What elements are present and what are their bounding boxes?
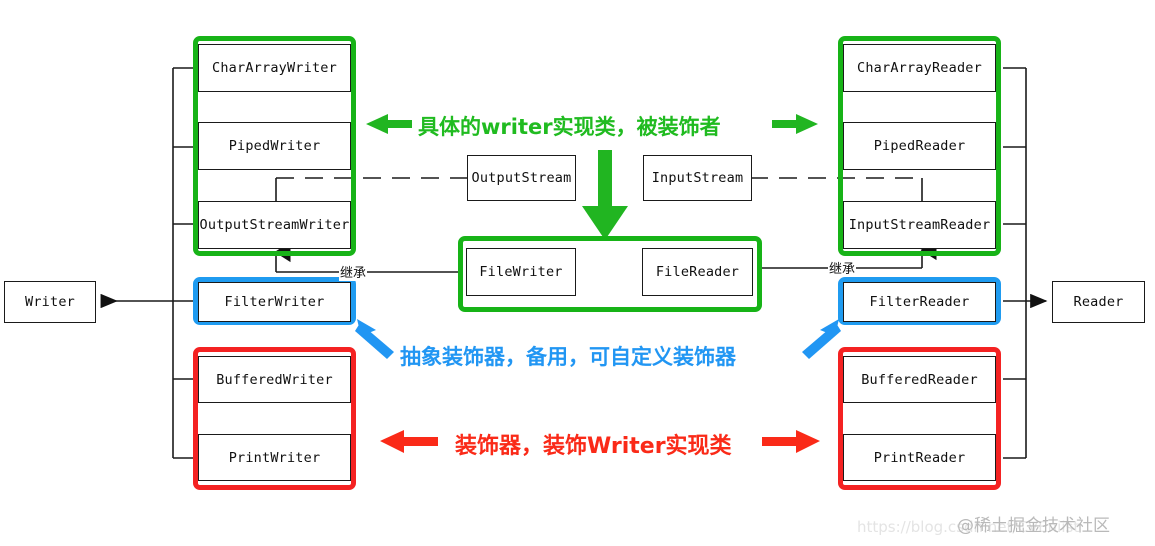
- class-printreader[interactable]: PrintReader: [843, 434, 996, 481]
- class-bufferedreader[interactable]: BufferedReader: [843, 356, 996, 403]
- green-down-arrow: [582, 150, 628, 240]
- class-filewriter[interactable]: FileWriter: [466, 248, 576, 296]
- class-filereader[interactable]: FileReader: [642, 248, 753, 296]
- green-note-arrow-left: [366, 114, 412, 134]
- class-printwriter[interactable]: PrintWriter: [198, 434, 351, 481]
- class-reader[interactable]: Reader: [1052, 281, 1145, 323]
- note-red-decorator: 装饰器，装饰Writer实现类: [455, 428, 732, 460]
- diagram-canvas: Writer Reader CharArrayWriter PipedWrite…: [0, 0, 1155, 546]
- watermark-handle: @稀土掘金技术社区: [957, 511, 1110, 536]
- blue-note-arrow-right: [802, 319, 841, 359]
- class-chararrayreader[interactable]: CharArrayReader: [843, 44, 996, 92]
- class-filterreader[interactable]: FilterReader: [843, 282, 996, 322]
- class-bufferedwriter[interactable]: BufferedWriter: [198, 356, 351, 403]
- class-writer[interactable]: Writer: [4, 281, 96, 323]
- blue-note-arrow-left: [355, 319, 394, 359]
- red-note-arrow-right: [762, 430, 820, 453]
- note-blue-decorator-abstract: 抽象装饰器，备用，可自定义装饰器: [400, 341, 736, 371]
- class-pipedreader[interactable]: PipedReader: [843, 122, 996, 170]
- class-inputstreamreader[interactable]: InputStreamReader: [843, 201, 996, 249]
- class-inputstream[interactable]: InputStream: [643, 155, 752, 201]
- edge-label-inherit-right: 继承: [828, 258, 856, 277]
- class-filterwriter[interactable]: FilterWriter: [198, 282, 351, 322]
- class-outputstream[interactable]: OutputStream: [467, 155, 576, 201]
- class-chararraywriter[interactable]: CharArrayWriter: [198, 44, 351, 92]
- red-note-arrow-left: [380, 430, 438, 453]
- class-outputstreamwriter[interactable]: OutputStreamWriter: [198, 201, 351, 249]
- note-green-concrete: 具体的writer实现类，被装饰者: [418, 111, 721, 141]
- class-pipedwriter[interactable]: PipedWriter: [198, 122, 351, 170]
- green-note-arrow-right: [772, 114, 818, 134]
- edge-label-inherit-left: 继承: [339, 262, 367, 281]
